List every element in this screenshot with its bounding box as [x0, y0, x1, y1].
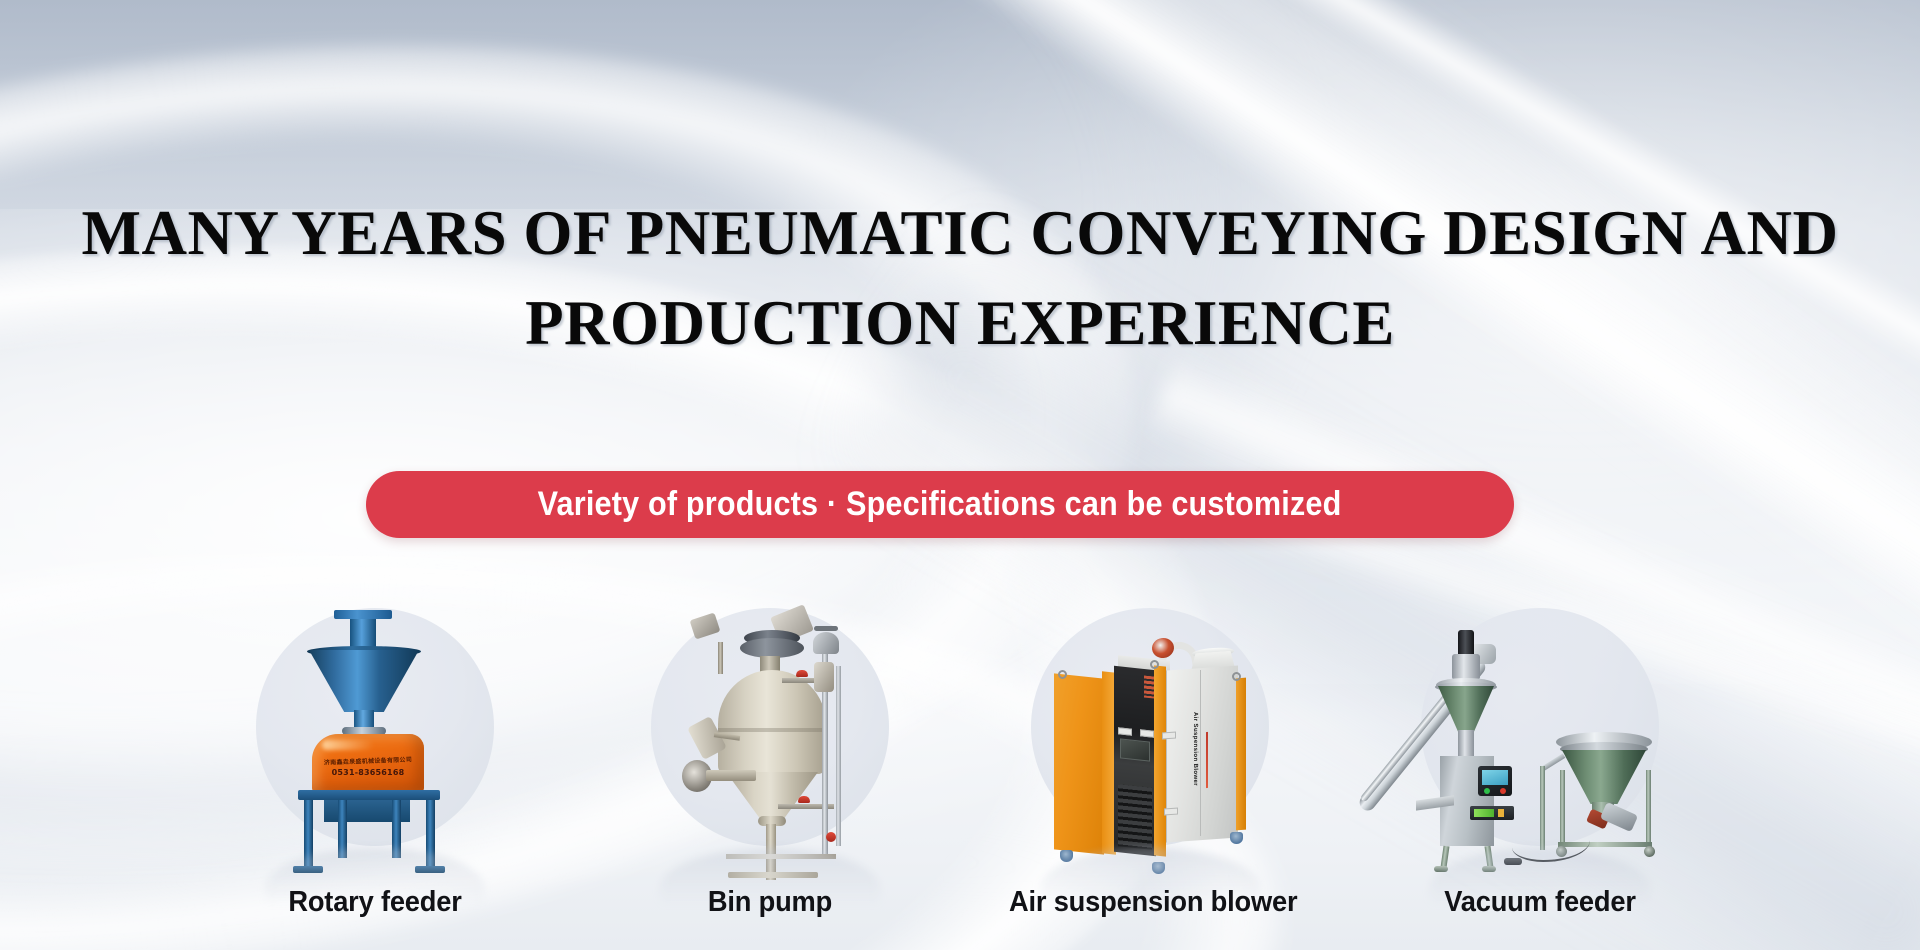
headline-line-2: PRODUCTION EXPERIENCE — [0, 278, 1920, 368]
product-card-vacuum-feeder[interactable]: Vacuum feeder — [1390, 600, 1690, 950]
headline-line-1: MANY YEARS OF PNEUMATIC CONVEYING DESIGN… — [0, 188, 1920, 278]
bin-pump-valve-handle — [796, 670, 808, 677]
product-label-vacuum-feeder: Vacuum feeder — [1399, 886, 1681, 919]
product-label-bin-pump: Bin pump — [629, 886, 911, 919]
bin-pump-valve-handle — [798, 796, 810, 803]
vacuum-feeder-icon — [1390, 600, 1690, 890]
promo-banner: MANY YEARS OF PNEUMATIC CONVEYING DESIGN… — [0, 0, 1920, 950]
product-showcase-row: 济南鑫垚泉盛机械设备有限公司 0531-83656168 Rotary feed… — [0, 600, 1920, 950]
bin-pump-icon — [620, 600, 920, 890]
product-card-air-suspension-blower[interactable]: Air Suspension Blower Air suspension bl — [1000, 600, 1300, 950]
product-card-bin-pump[interactable]: Bin pump — [620, 600, 920, 950]
bin-pump-valve-handle — [826, 832, 836, 842]
air-suspension-blower-icon: Air Suspension Blower — [1000, 600, 1300, 890]
product-label-rotary-feeder: Rotary feeder — [234, 886, 516, 919]
rotary-feeder-icon: 济南鑫垚泉盛机械设备有限公司 0531-83656168 — [225, 600, 525, 890]
product-label-air-suspension-blower: Air suspension blower — [1009, 886, 1291, 919]
tagline-badge-label: Variety of products · Specifications can… — [538, 485, 1342, 524]
rotary-feeder-phone-text: 0531-83656168 — [312, 768, 424, 777]
product-card-rotary-feeder[interactable]: 济南鑫垚泉盛机械设备有限公司 0531-83656168 Rotary feed… — [225, 600, 525, 950]
tagline-badge: Variety of products · Specifications can… — [366, 471, 1514, 538]
blower-side-text: Air Suspension Blower — [1192, 712, 1198, 786]
banner-headline: MANY YEARS OF PNEUMATIC CONVEYING DESIGN… — [0, 188, 1920, 368]
